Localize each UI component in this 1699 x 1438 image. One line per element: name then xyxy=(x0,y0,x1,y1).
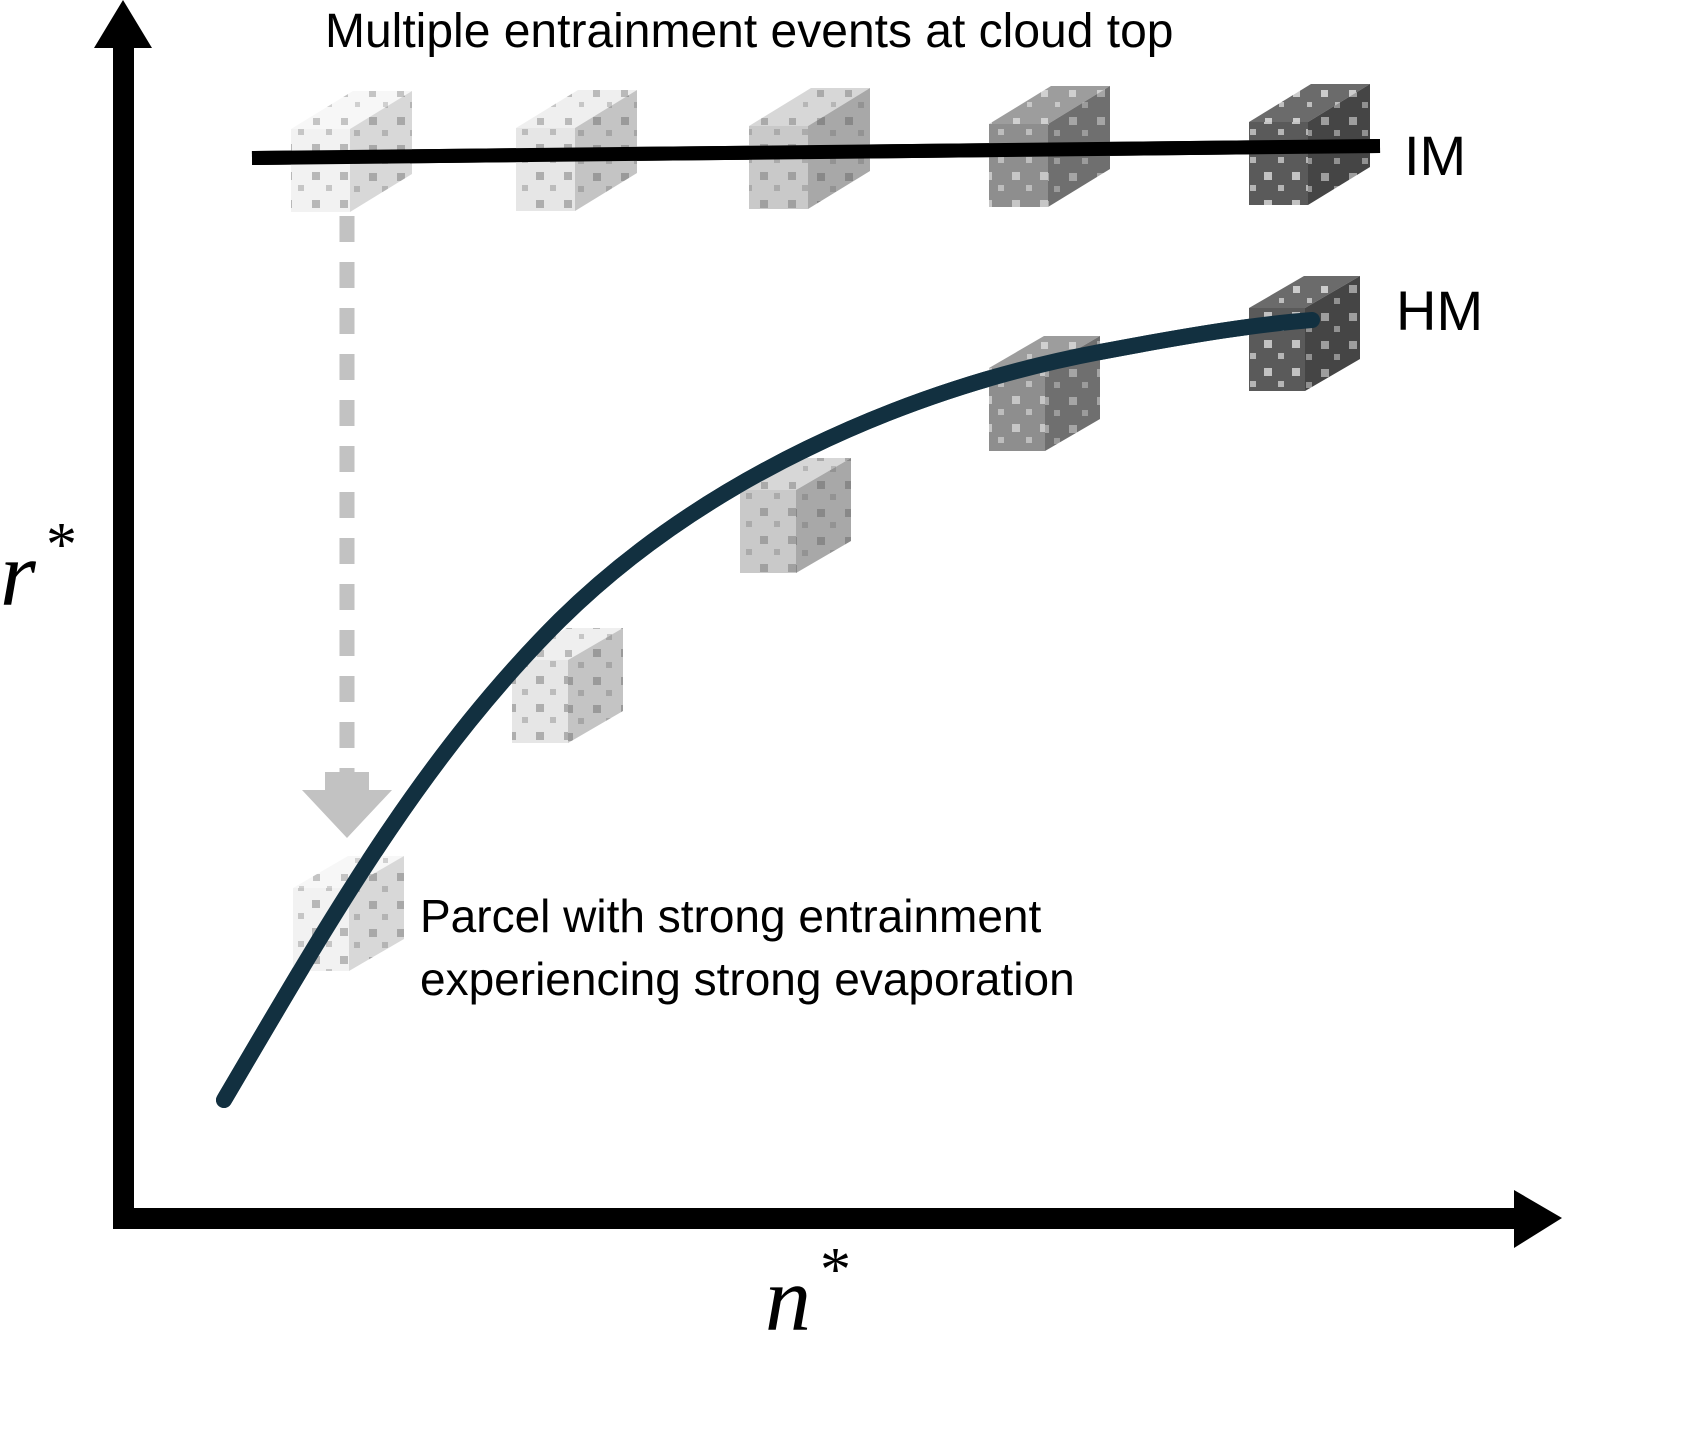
figure-root: Multiple entrainment events at cloud top… xyxy=(0,0,1699,1438)
evaporation-arrow xyxy=(302,216,392,838)
x-axis-label-superscript: * xyxy=(820,1236,851,1304)
y-axis-label: r * xyxy=(0,511,77,625)
y-axis-line xyxy=(113,33,134,1229)
evaporation-arrow-head xyxy=(302,772,392,838)
y-axis-arrowhead xyxy=(94,0,152,48)
parcel-annotation-line2: experiencing strong evaporation xyxy=(420,953,1075,1005)
x-axis-line xyxy=(113,1208,1533,1229)
parcel-annotation: Parcel with strong entrainment experienc… xyxy=(420,890,1075,1005)
y-axis-label-superscript: * xyxy=(46,511,77,579)
x-axis-label: n * xyxy=(765,1236,851,1350)
chart-title: Multiple entrainment events at cloud top xyxy=(325,5,1173,58)
series-label-im: IM xyxy=(1404,124,1466,187)
diagram-canvas: Multiple entrainment events at cloud top… xyxy=(0,0,1699,1438)
x-axis-label-symbol: n xyxy=(765,1248,811,1350)
cube-marker-hm-5 xyxy=(1249,276,1360,391)
x-axis-arrowhead xyxy=(1514,1190,1562,1248)
y-axis-label-symbol: r xyxy=(0,523,37,625)
series-label-hm: HM xyxy=(1396,279,1483,342)
parcel-annotation-line1: Parcel with strong entrainment xyxy=(420,890,1042,942)
im-line-overlay xyxy=(252,146,1380,158)
